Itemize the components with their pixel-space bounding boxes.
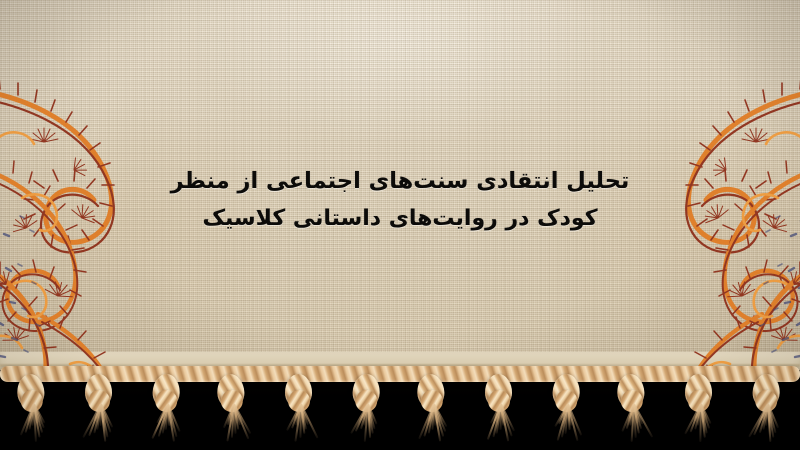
tassel-skirt <box>414 403 454 450</box>
tassel <box>208 359 259 450</box>
title-line-2: کودک در روایت‌های داستانی کلاسیک <box>0 200 800 237</box>
tassel <box>277 360 323 450</box>
tassel <box>477 360 523 450</box>
tassel <box>741 359 792 450</box>
tassel-skirt <box>345 403 385 450</box>
tassel-skirt <box>214 403 254 450</box>
tassel <box>77 360 123 450</box>
tassel <box>8 359 59 450</box>
tassel-skirt <box>14 403 54 450</box>
tassel-skirt <box>81 404 119 450</box>
tassel-skirt <box>614 403 654 450</box>
tassel <box>608 359 659 450</box>
tassel <box>677 360 723 450</box>
tassel-skirt <box>545 403 585 450</box>
title-line-1: تحلیل انتقادی سنت‌های اجتماعی از منظر <box>0 163 800 200</box>
tassel-skirt <box>745 403 785 450</box>
tassel <box>408 359 459 450</box>
knotted-tassel-fringe <box>0 360 800 450</box>
tassel <box>341 359 392 450</box>
title-card-slide: تحلیل انتقادی سنت‌های اجتماعی از منظر کو… <box>0 0 800 450</box>
tassel-skirt <box>481 404 519 450</box>
tassel <box>141 359 192 450</box>
tassel-skirt <box>145 403 185 450</box>
tassel <box>541 359 592 450</box>
tassel-skirt <box>281 404 319 450</box>
tassel-skirt <box>681 404 719 450</box>
slide-title: تحلیل انتقادی سنت‌های اجتماعی از منظر کو… <box>0 163 800 237</box>
